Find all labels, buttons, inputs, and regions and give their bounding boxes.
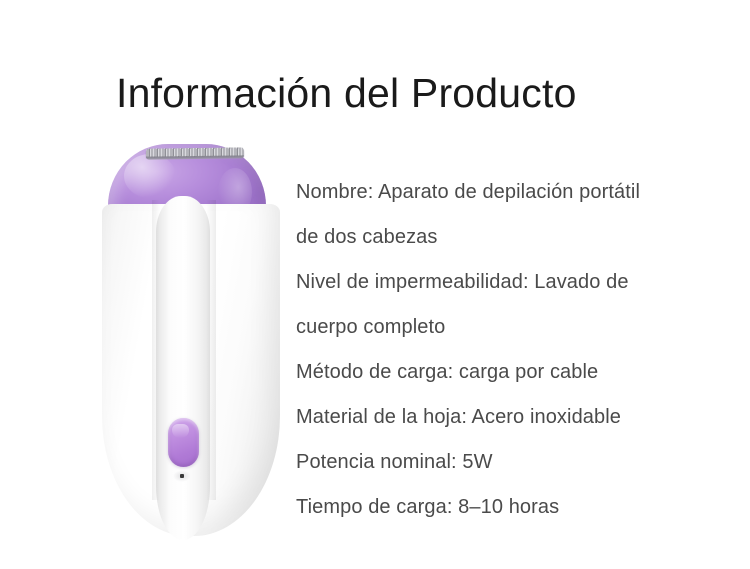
head-highlight-left xyxy=(124,154,176,198)
spec-line: Método de carga: carga por cable xyxy=(296,350,732,395)
spec-line: Nombre: Aparato de depilación portátil xyxy=(296,170,732,215)
page-title: Información del Producto xyxy=(116,69,577,117)
spec-line: cuerpo completo xyxy=(296,305,732,350)
spec-line: Material de la hoja: Acero inoxidable xyxy=(296,395,732,440)
indicator-led-icon xyxy=(180,474,184,478)
product-image xyxy=(80,130,290,550)
ridge-shadow-left xyxy=(152,200,160,500)
spec-line: Nivel de impermeabilidad: Lavado de xyxy=(296,260,732,305)
spec-line: de dos cabezas xyxy=(296,215,732,260)
spec-line: Potencia nominal: 5W xyxy=(296,440,732,485)
spec-line: Tiempo de carga: 8–10 horas xyxy=(296,485,732,530)
body-center-ridge xyxy=(156,196,210,540)
product-spec-list: Nombre: Aparato de depilación portátil d… xyxy=(296,170,732,530)
ridge-shadow-right xyxy=(206,200,216,500)
power-button xyxy=(168,418,199,467)
